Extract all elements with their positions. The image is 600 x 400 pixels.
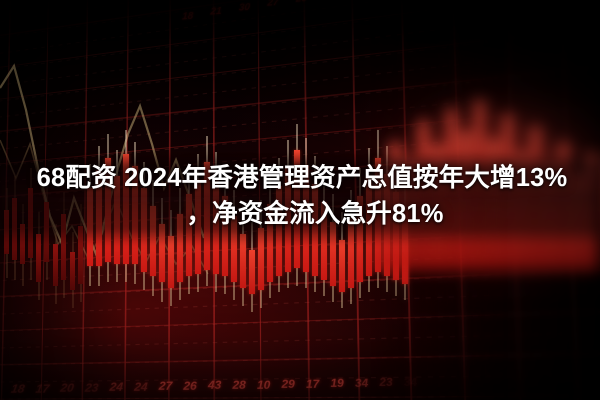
news-banner-image: 1821302729 18172023242427264328102917193… <box>0 0 600 400</box>
depth-of-field-blur <box>370 0 600 400</box>
